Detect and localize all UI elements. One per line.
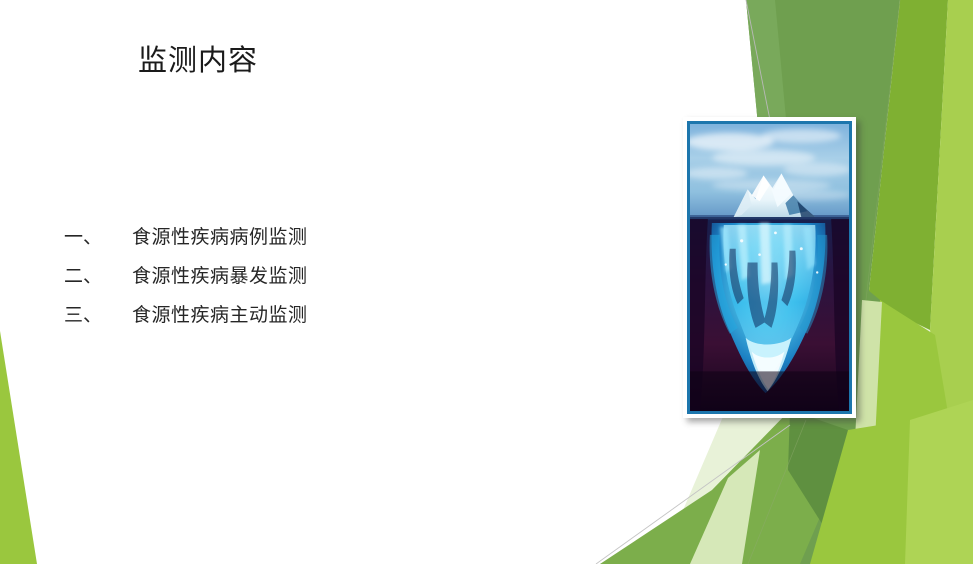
decor-hairline-bottom (596, 425, 790, 564)
decor-bottom-dark-accent (788, 410, 848, 530)
decor-mid-bright-band (860, 300, 973, 564)
list-item-marker: 二、 (64, 261, 132, 288)
list-item-label: 食源性疾病暴发监测 (132, 261, 308, 288)
list-item[interactable]: 一、 食源性疾病病例监测 (64, 222, 524, 261)
decor-bottom-bright-wedge (810, 420, 930, 564)
slide-title: 监测内容 (138, 42, 258, 78)
decor-hairline-bottom-2 (748, 420, 806, 564)
list-item-marker: 一、 (64, 222, 132, 249)
decor-top-bright-wedge (868, 0, 948, 330)
list-item-label: 食源性疾病主动监测 (132, 300, 308, 327)
decor-bottom-pale-edge (690, 450, 760, 564)
content-list: 一、 食源性疾病病例监测 二、 食源性疾病暴发监测 三、 食源性疾病主动监测 (64, 222, 524, 339)
decor-bottom-light-right (905, 400, 973, 564)
picture-frame[interactable] (683, 117, 856, 418)
decor-mid-pale-sliver (852, 300, 882, 500)
decor-right-edge-column (930, 0, 973, 564)
list-item-marker: 三、 (64, 300, 132, 327)
picture-inner-border (687, 121, 852, 414)
decor-hairline-right (866, 0, 900, 300)
decor-hairline-top (746, 0, 772, 130)
decor-left-wedge (0, 331, 37, 564)
list-item[interactable]: 三、 食源性疾病主动监测 (64, 300, 524, 339)
presentation-slide: 监测内容 一、 食源性疾病病例监测 二、 食源性疾病暴发监测 三、 食源性疾病主… (0, 0, 973, 564)
list-item[interactable]: 二、 食源性疾病暴发监测 (64, 261, 524, 300)
list-item-label: 食源性疾病病例监测 (132, 222, 308, 249)
decor-bottom-green-sweep (600, 410, 840, 564)
iceberg-photo (690, 124, 849, 411)
